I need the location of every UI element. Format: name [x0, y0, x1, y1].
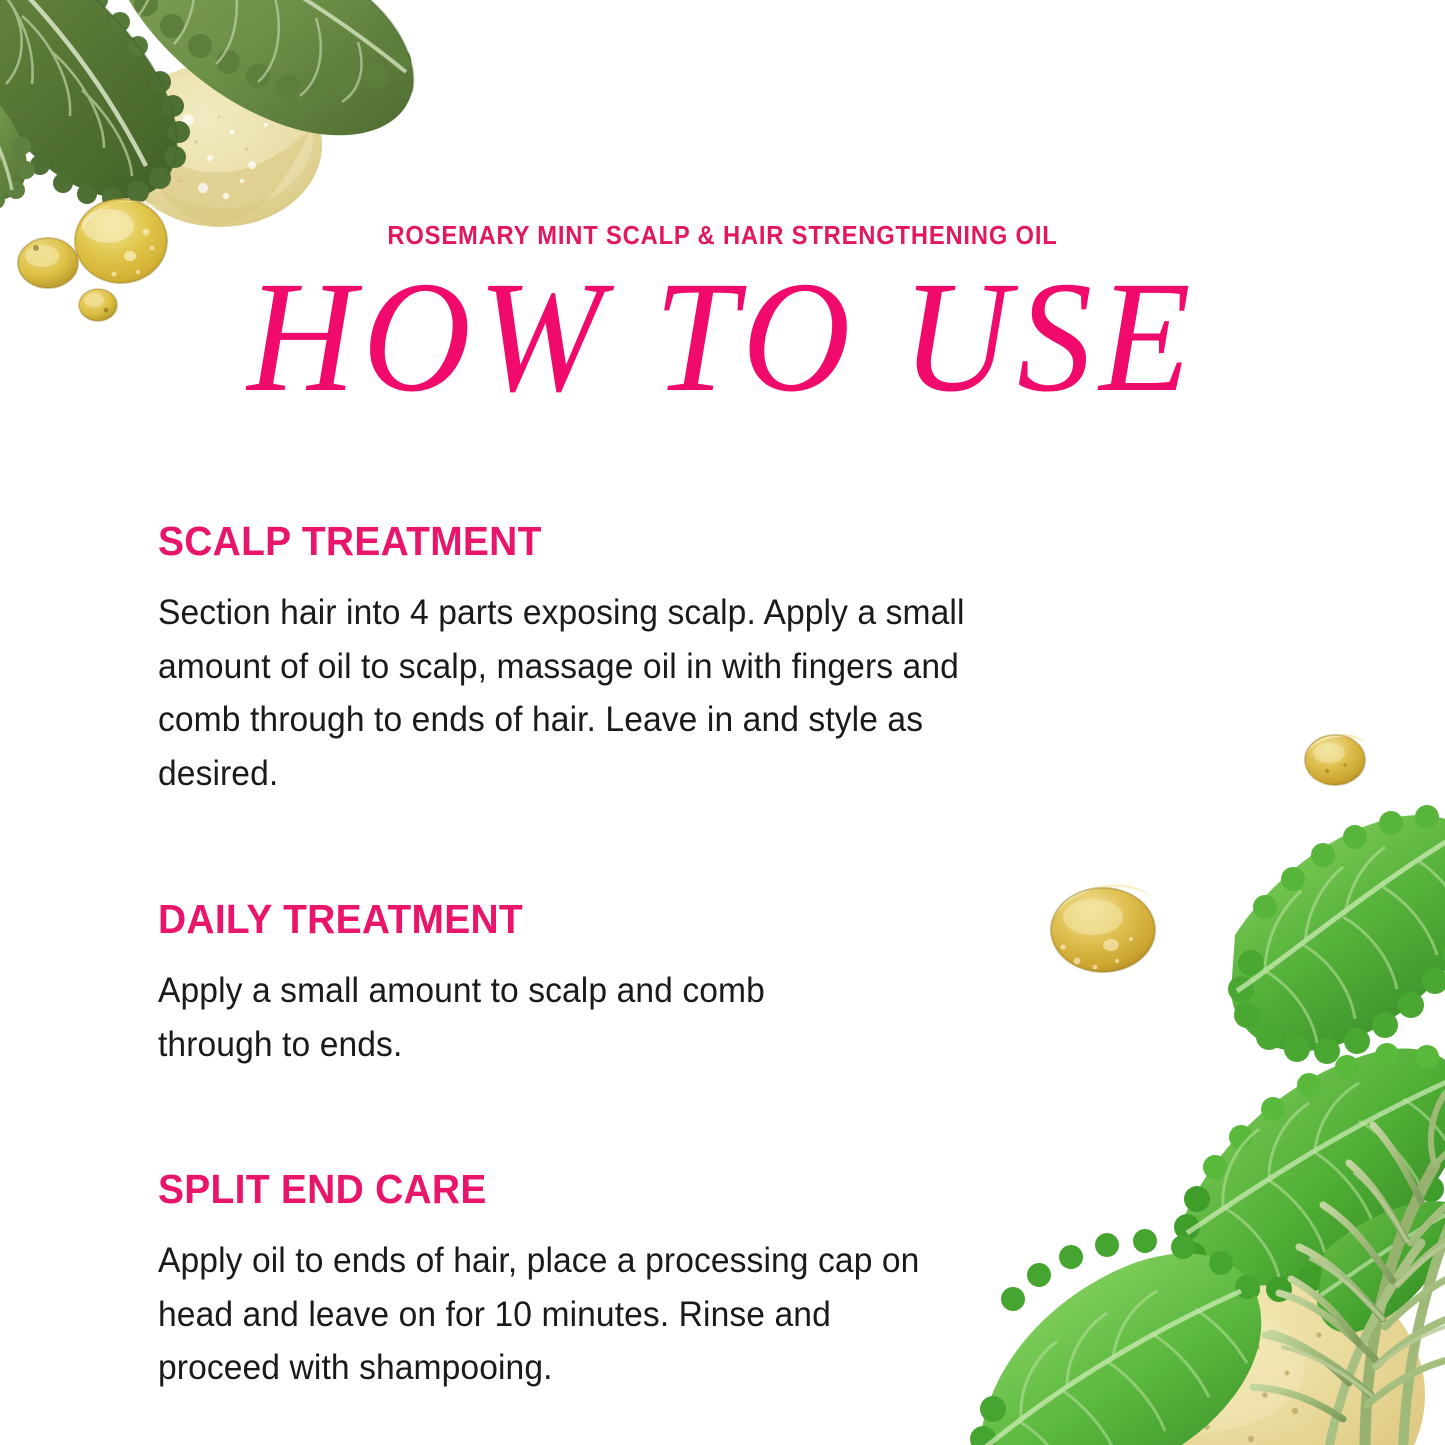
section-body-daily-treatment: Apply a small amount to scalp and comb t… [158, 964, 888, 1071]
mint-leaf-fragment [0, 56, 35, 209]
section-body-split-end-care: Apply oil to ends of hair, place a proce… [158, 1234, 926, 1395]
product-name-eyebrow: ROSEMARY MINT SCALP & HAIR STRENGTHENING… [51, 222, 1395, 251]
instruction-sections: SCALP TREATMENT Section hair into 4 part… [158, 518, 1038, 1395]
mint-leaf-left [0, 0, 190, 208]
page-title: HOW TO USE [0, 258, 1445, 417]
oil-droplet-upper-right [1305, 734, 1365, 785]
section-split-end-care: SPLIT END CARE Apply oil to ends of hair… [158, 1166, 1038, 1395]
section-body-scalp-treatment: Section hair into 4 parts exposing scalp… [158, 586, 1003, 800]
mint-leaf-fragment-right [1317, 1201, 1445, 1333]
section-heading-split-end-care: SPLIT END CARE [158, 1166, 994, 1213]
oil-droplet-mid-left [1051, 884, 1155, 972]
mint-leaf-upper-right [1228, 805, 1445, 1064]
mint-leaf-center-right [1174, 1043, 1445, 1302]
oil-pool-shape [118, 63, 322, 227]
section-scalp-treatment: SCALP TREATMENT Section hair into 4 part… [158, 518, 1038, 800]
section-heading-scalp-treatment: SCALP TREATMENT [158, 518, 994, 565]
rosemary-sprigs [1253, 1093, 1445, 1445]
section-daily-treatment: DAILY TREATMENT Apply a small amount to … [158, 896, 1038, 1071]
section-heading-daily-treatment: DAILY TREATMENT [158, 896, 994, 943]
mint-leaf-right [120, 0, 413, 135]
how-to-use-infographic: ROSEMARY MINT SCALP & HAIR STRENGTHENING… [0, 0, 1445, 1445]
oil-pool-bottom-right [1045, 1245, 1425, 1445]
